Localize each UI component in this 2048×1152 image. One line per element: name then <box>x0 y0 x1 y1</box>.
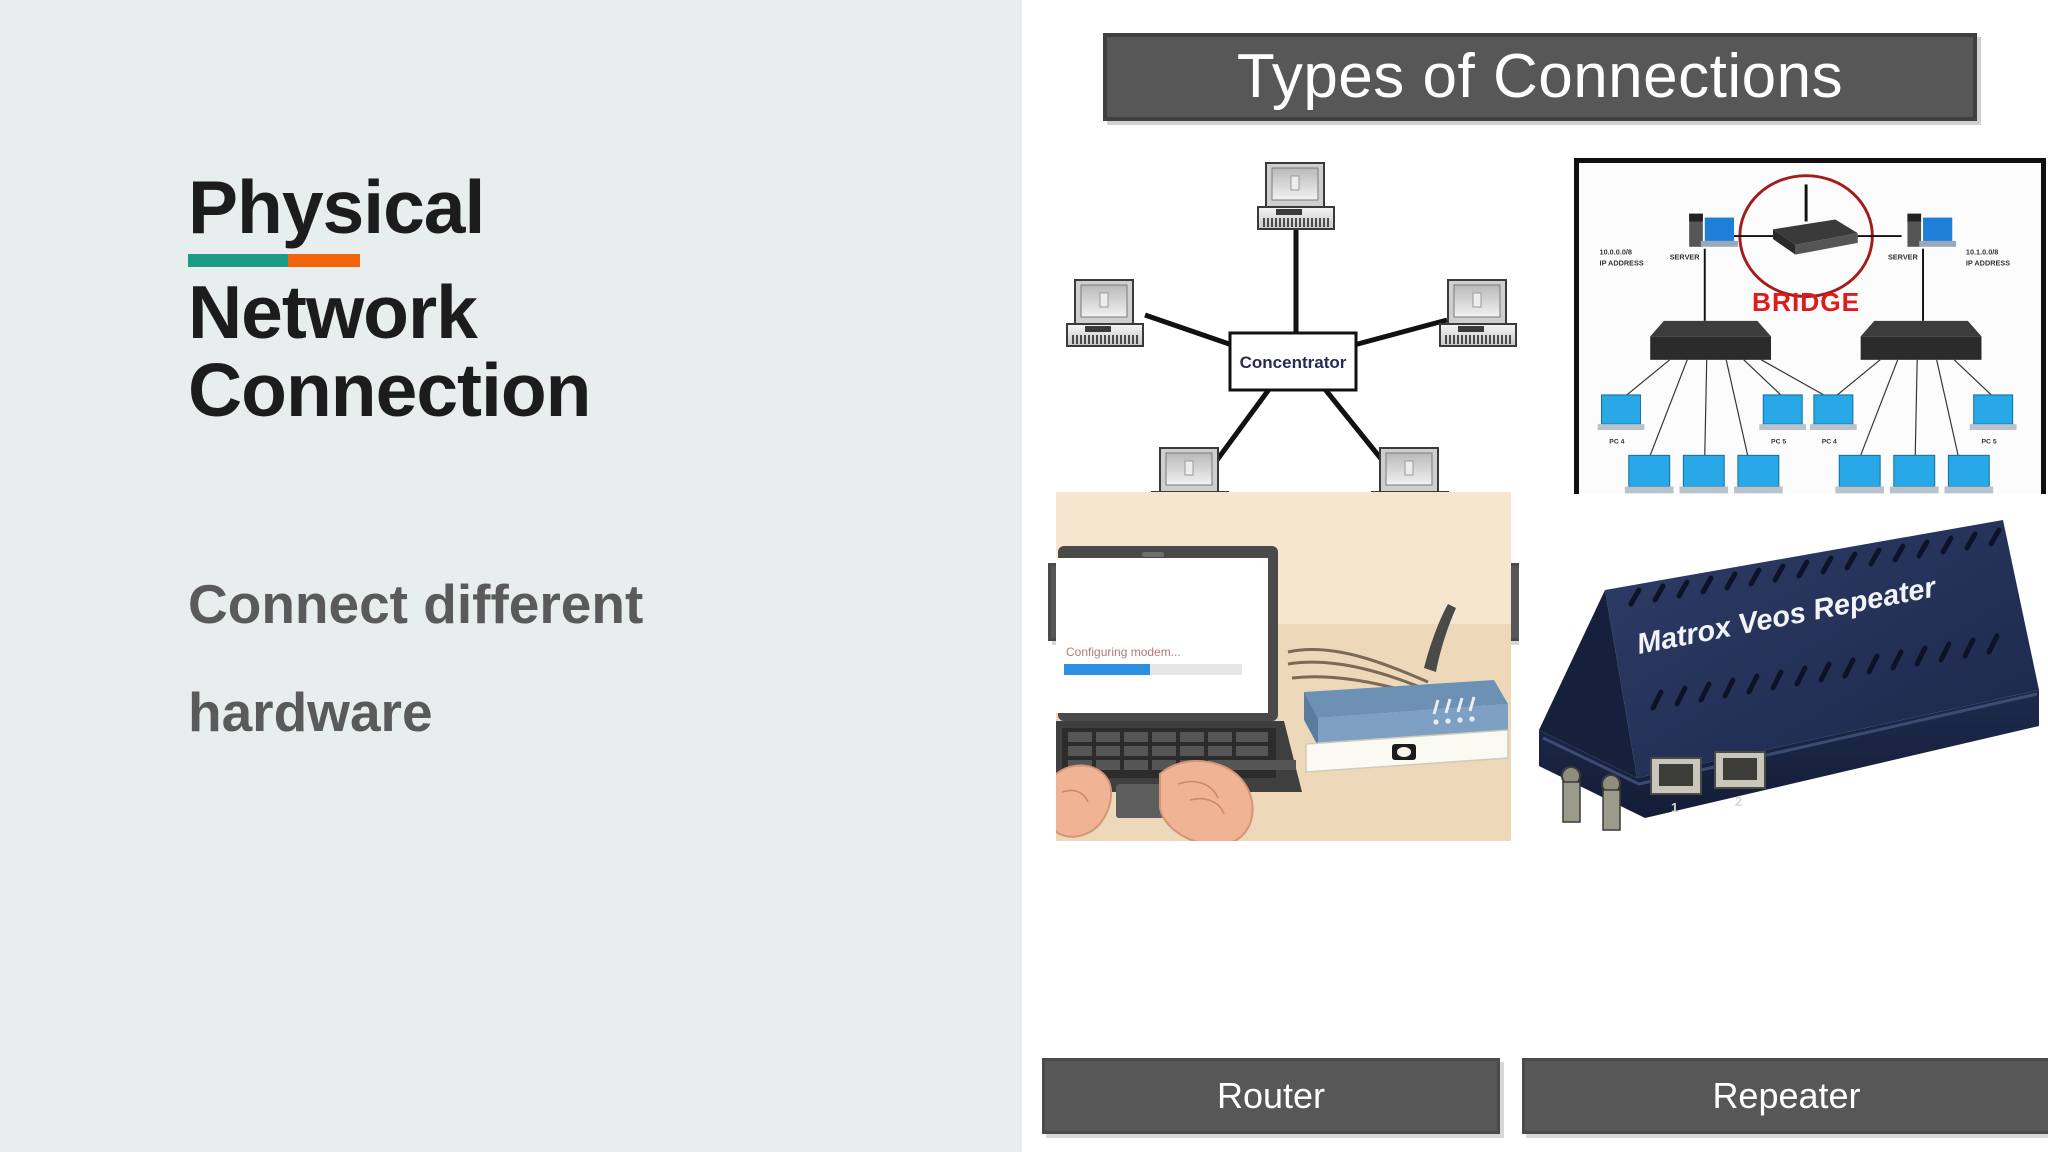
label-ipaddr-right: IP ADDRESS <box>1966 258 2010 267</box>
caption-repeater: Repeater <box>1522 1058 2048 1134</box>
progress-fill <box>1064 664 1150 675</box>
title-line-3: Connection <box>188 351 948 429</box>
bridge-diagram: BRIDGE <box>1574 158 2046 548</box>
router-svg: Configuring modem... <box>1056 492 1511 841</box>
left-text-panel: Physical Network Connection Connect diff… <box>0 0 1022 1152</box>
section-banner-label: Types of Connections <box>1237 46 1843 108</box>
page-title: Physical Network Connection <box>188 168 948 429</box>
server-right <box>1907 214 1956 247</box>
subtitle-line-1: Connect different <box>188 550 868 658</box>
concentrator-hub-label: Concentrator <box>1240 353 1347 372</box>
title-line-2: Network <box>188 273 948 351</box>
accent-bar <box>188 254 360 267</box>
caption-router-label: Router <box>1217 1078 1325 1114</box>
right-figure-panel: Types of Connections <box>1022 0 2048 1152</box>
caption-repeater-label: Repeater <box>1712 1078 1860 1114</box>
repeater-svg: Matrox Veos Repeater 1 <box>1519 494 2048 844</box>
switch-left <box>1650 321 1771 360</box>
slide-root: Physical Network Connection Connect diff… <box>0 0 2048 1152</box>
title-line-1: Physical <box>188 168 948 246</box>
pc-label-u3: PC 4 <box>1822 439 1837 446</box>
subtitle-line-2: hardware <box>188 658 868 766</box>
repeater-photo: Matrox Veos Repeater 1 <box>1519 494 2048 844</box>
laptop-screen-text: Configuring modem... <box>1066 645 1181 659</box>
bridge-headline: BRIDGE <box>1752 287 1860 317</box>
pc-node-right <box>1440 280 1516 346</box>
router-illustration: Configuring modem... <box>1056 492 1511 841</box>
page-subtitle: Connect different hardware <box>188 550 868 766</box>
label-subnet-right: 10.1.0.0/8 <box>1966 248 1998 257</box>
caption-router: Router <box>1042 1058 1500 1134</box>
port-label-2: 2 <box>1735 794 1742 809</box>
pc-node-top <box>1258 163 1334 229</box>
port-label-1: 1 <box>1671 800 1678 815</box>
label-ipaddr-left: IP ADDRESS <box>1600 258 1644 267</box>
label-server-right: SERVER <box>1888 252 1919 261</box>
label-server-left: SERVER <box>1670 252 1701 261</box>
pc-label-u4: PC 5 <box>1981 439 1996 446</box>
bridge-svg: BRIDGE <box>1579 163 2041 543</box>
accent-bar-teal <box>188 254 288 267</box>
pc-label-u2: PC 5 <box>1771 439 1786 446</box>
label-subnet-left: 10.0.0.0/8 <box>1600 248 1632 257</box>
pc-node-left <box>1067 280 1143 346</box>
section-banner: Types of Connections <box>1103 33 1977 121</box>
accent-bar-orange <box>288 254 360 267</box>
concentrator-diagram: Concentrator <box>1042 130 1542 550</box>
concentrator-svg: Concentrator <box>1042 130 1542 550</box>
server-left <box>1689 214 1738 247</box>
pc-label-u1: PC 4 <box>1609 439 1624 446</box>
switch-right <box>1861 321 1982 360</box>
